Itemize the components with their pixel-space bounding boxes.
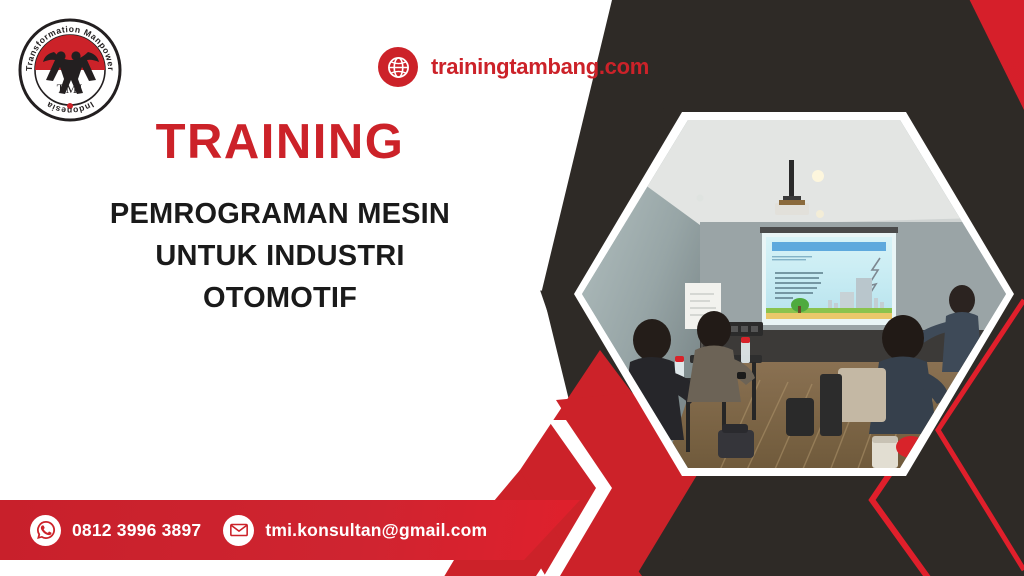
tmi-circular-logo: TMI Transformation Manpower Indonesia <box>18 18 122 122</box>
svg-text:TMI: TMI <box>57 81 84 96</box>
contact-email[interactable]: tmi.konsultan@gmail.com <box>223 515 487 546</box>
whatsapp-icon-svg <box>35 519 57 541</box>
title-line-3: OTOMOTIF <box>40 277 520 319</box>
whatsapp-icon <box>30 515 61 546</box>
website-row[interactable]: trainingtambang.com <box>378 47 649 87</box>
globe-icon-svg <box>386 55 411 80</box>
red-chevron-outer <box>548 392 700 576</box>
globe-icon <box>378 47 418 87</box>
title-line-2: UNTUK INDUSTRI <box>40 235 520 277</box>
contact-bar: 0812 3996 3897 tmi.konsultan@gmail.com <box>0 500 580 560</box>
website-url-text[interactable]: trainingtambang.com <box>431 54 649 80</box>
red-chevron-line-2 <box>938 300 1024 570</box>
tmi-logo-svg: TMI Transformation Manpower Indonesia <box>18 18 122 122</box>
contact-phone[interactable]: 0812 3996 3897 <box>30 515 201 546</box>
headline-block: TRAINING PEMROGRAMAN MESIN UNTUK INDUSTR… <box>40 118 520 319</box>
red-wedge-top <box>698 0 1024 430</box>
eyebrow-training: TRAINING <box>40 118 520 167</box>
title-line-1: PEMROGRAMAN MESIN <box>40 193 520 235</box>
red-wedge-background <box>760 0 1024 576</box>
red-chevron-line <box>872 370 980 576</box>
email-icon <box>223 515 254 546</box>
white-chevron-sep-1 <box>544 420 612 576</box>
email-address-text[interactable]: tmi.konsultan@gmail.com <box>265 520 487 541</box>
phone-number-text[interactable]: 0812 3996 3897 <box>72 520 201 541</box>
poster-canvas: TMI Transformation Manpower Indonesia <box>0 0 1024 576</box>
training-classroom-photo <box>570 110 1020 480</box>
email-icon-svg <box>229 520 249 540</box>
photo-frame <box>574 112 1014 476</box>
